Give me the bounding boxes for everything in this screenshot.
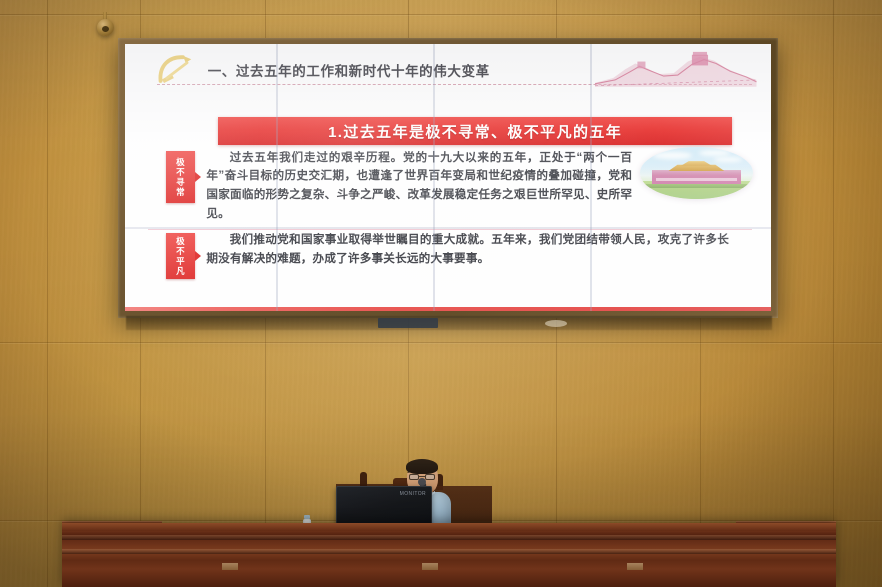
tag-char: 不 <box>176 167 185 177</box>
slide-body: 极 不 寻 常 过去五年我们走过的艰辛历程。党的十九大以来的五年，正处于“两个一… <box>125 149 771 304</box>
cable-clip <box>545 320 567 327</box>
slide-section-heading: 一、过去五年的工作和新时代十年的伟大变革 <box>208 60 490 80</box>
tag-extraordinary: 极 不 平 凡 <box>166 233 194 279</box>
slide-banner: 1.过去五年是极不寻常、极不平凡的五年 <box>218 117 732 145</box>
tag-extremely-unusual: 极 不 寻 常 <box>166 151 194 203</box>
microphone-head <box>418 478 426 486</box>
tag-char: 不 <box>176 246 185 256</box>
paragraph-divider <box>148 229 751 230</box>
tag-char: 常 <box>176 187 185 197</box>
paragraph-text-1: 过去五年我们走过的艰辛历程。党的十九大以来的五年，正处于“两个一百年”奋斗目标的… <box>206 149 632 224</box>
desk-top-edge <box>62 523 836 531</box>
tag-char: 平 <box>176 256 185 266</box>
slide-canvas: 一、过去五年的工作和新时代十年的伟大变革 1.过去五年是极不寻常、极不平 <box>125 44 771 311</box>
photo-light-wash <box>640 147 753 199</box>
conference-room-scene: 一、过去五年的工作和新时代十年的伟大变革 1.过去五年是极不寻常、极不平 <box>0 0 882 587</box>
slide-header: 一、过去五年的工作和新时代十年的伟大变革 <box>125 44 771 111</box>
tag-char: 凡 <box>176 266 185 276</box>
presentation-screen[interactable]: 一、过去五年的工作和新时代十年的伟大变革 1.过去五年是极不寻常、极不平 <box>125 44 771 311</box>
desk-plate <box>222 563 238 570</box>
speaker-hair <box>406 459 438 474</box>
paragraph-text-2: 我们推动党和国家事业取得举世瞩目的重大成就。五年来，我们党团结带领人民，攻克了许… <box>206 231 729 269</box>
tag-char: 极 <box>176 236 185 246</box>
glasses-lens <box>425 474 435 480</box>
stage-desk <box>62 523 836 587</box>
sensor-lens <box>102 26 109 32</box>
cable-bundle <box>126 316 772 330</box>
tag-pointer-icon <box>195 172 201 182</box>
desk-plate <box>422 563 438 570</box>
slide-paragraph-block: 极 不 平 凡 我们推动党和国家事业取得举世瞩目的重大成就。五年来，我们党团结带… <box>125 232 771 294</box>
great-wall-decoration-icon <box>595 48 757 87</box>
slide-footer-bar <box>125 307 771 311</box>
bottle-cap <box>304 515 310 519</box>
cable-junction-box <box>378 318 438 328</box>
tiananmen-photo <box>640 147 753 199</box>
video-wall-bezel: 一、过去五年的工作和新时代十年的伟大变革 1.过去五年是极不寻常、极不平 <box>118 38 778 318</box>
party-emblem-icon <box>152 53 200 84</box>
tag-char: 极 <box>176 157 185 167</box>
tag-char: 寻 <box>176 177 185 187</box>
desk-moulding <box>62 549 836 554</box>
slide-paragraph-block: 极 不 寻 常 过去五年我们走过的艰辛历程。党的十九大以来的五年，正处于“两个一… <box>125 149 771 227</box>
monitor-brand-label: MONITOR <box>400 491 426 497</box>
desk-moulding <box>62 535 836 540</box>
desk-plate <box>627 563 643 570</box>
slide-banner-title: 1.过去五年是极不寻常、极不平凡的五年 <box>328 121 622 142</box>
tag-pointer-icon <box>195 251 201 261</box>
ceiling-sensor-icon <box>97 19 114 36</box>
